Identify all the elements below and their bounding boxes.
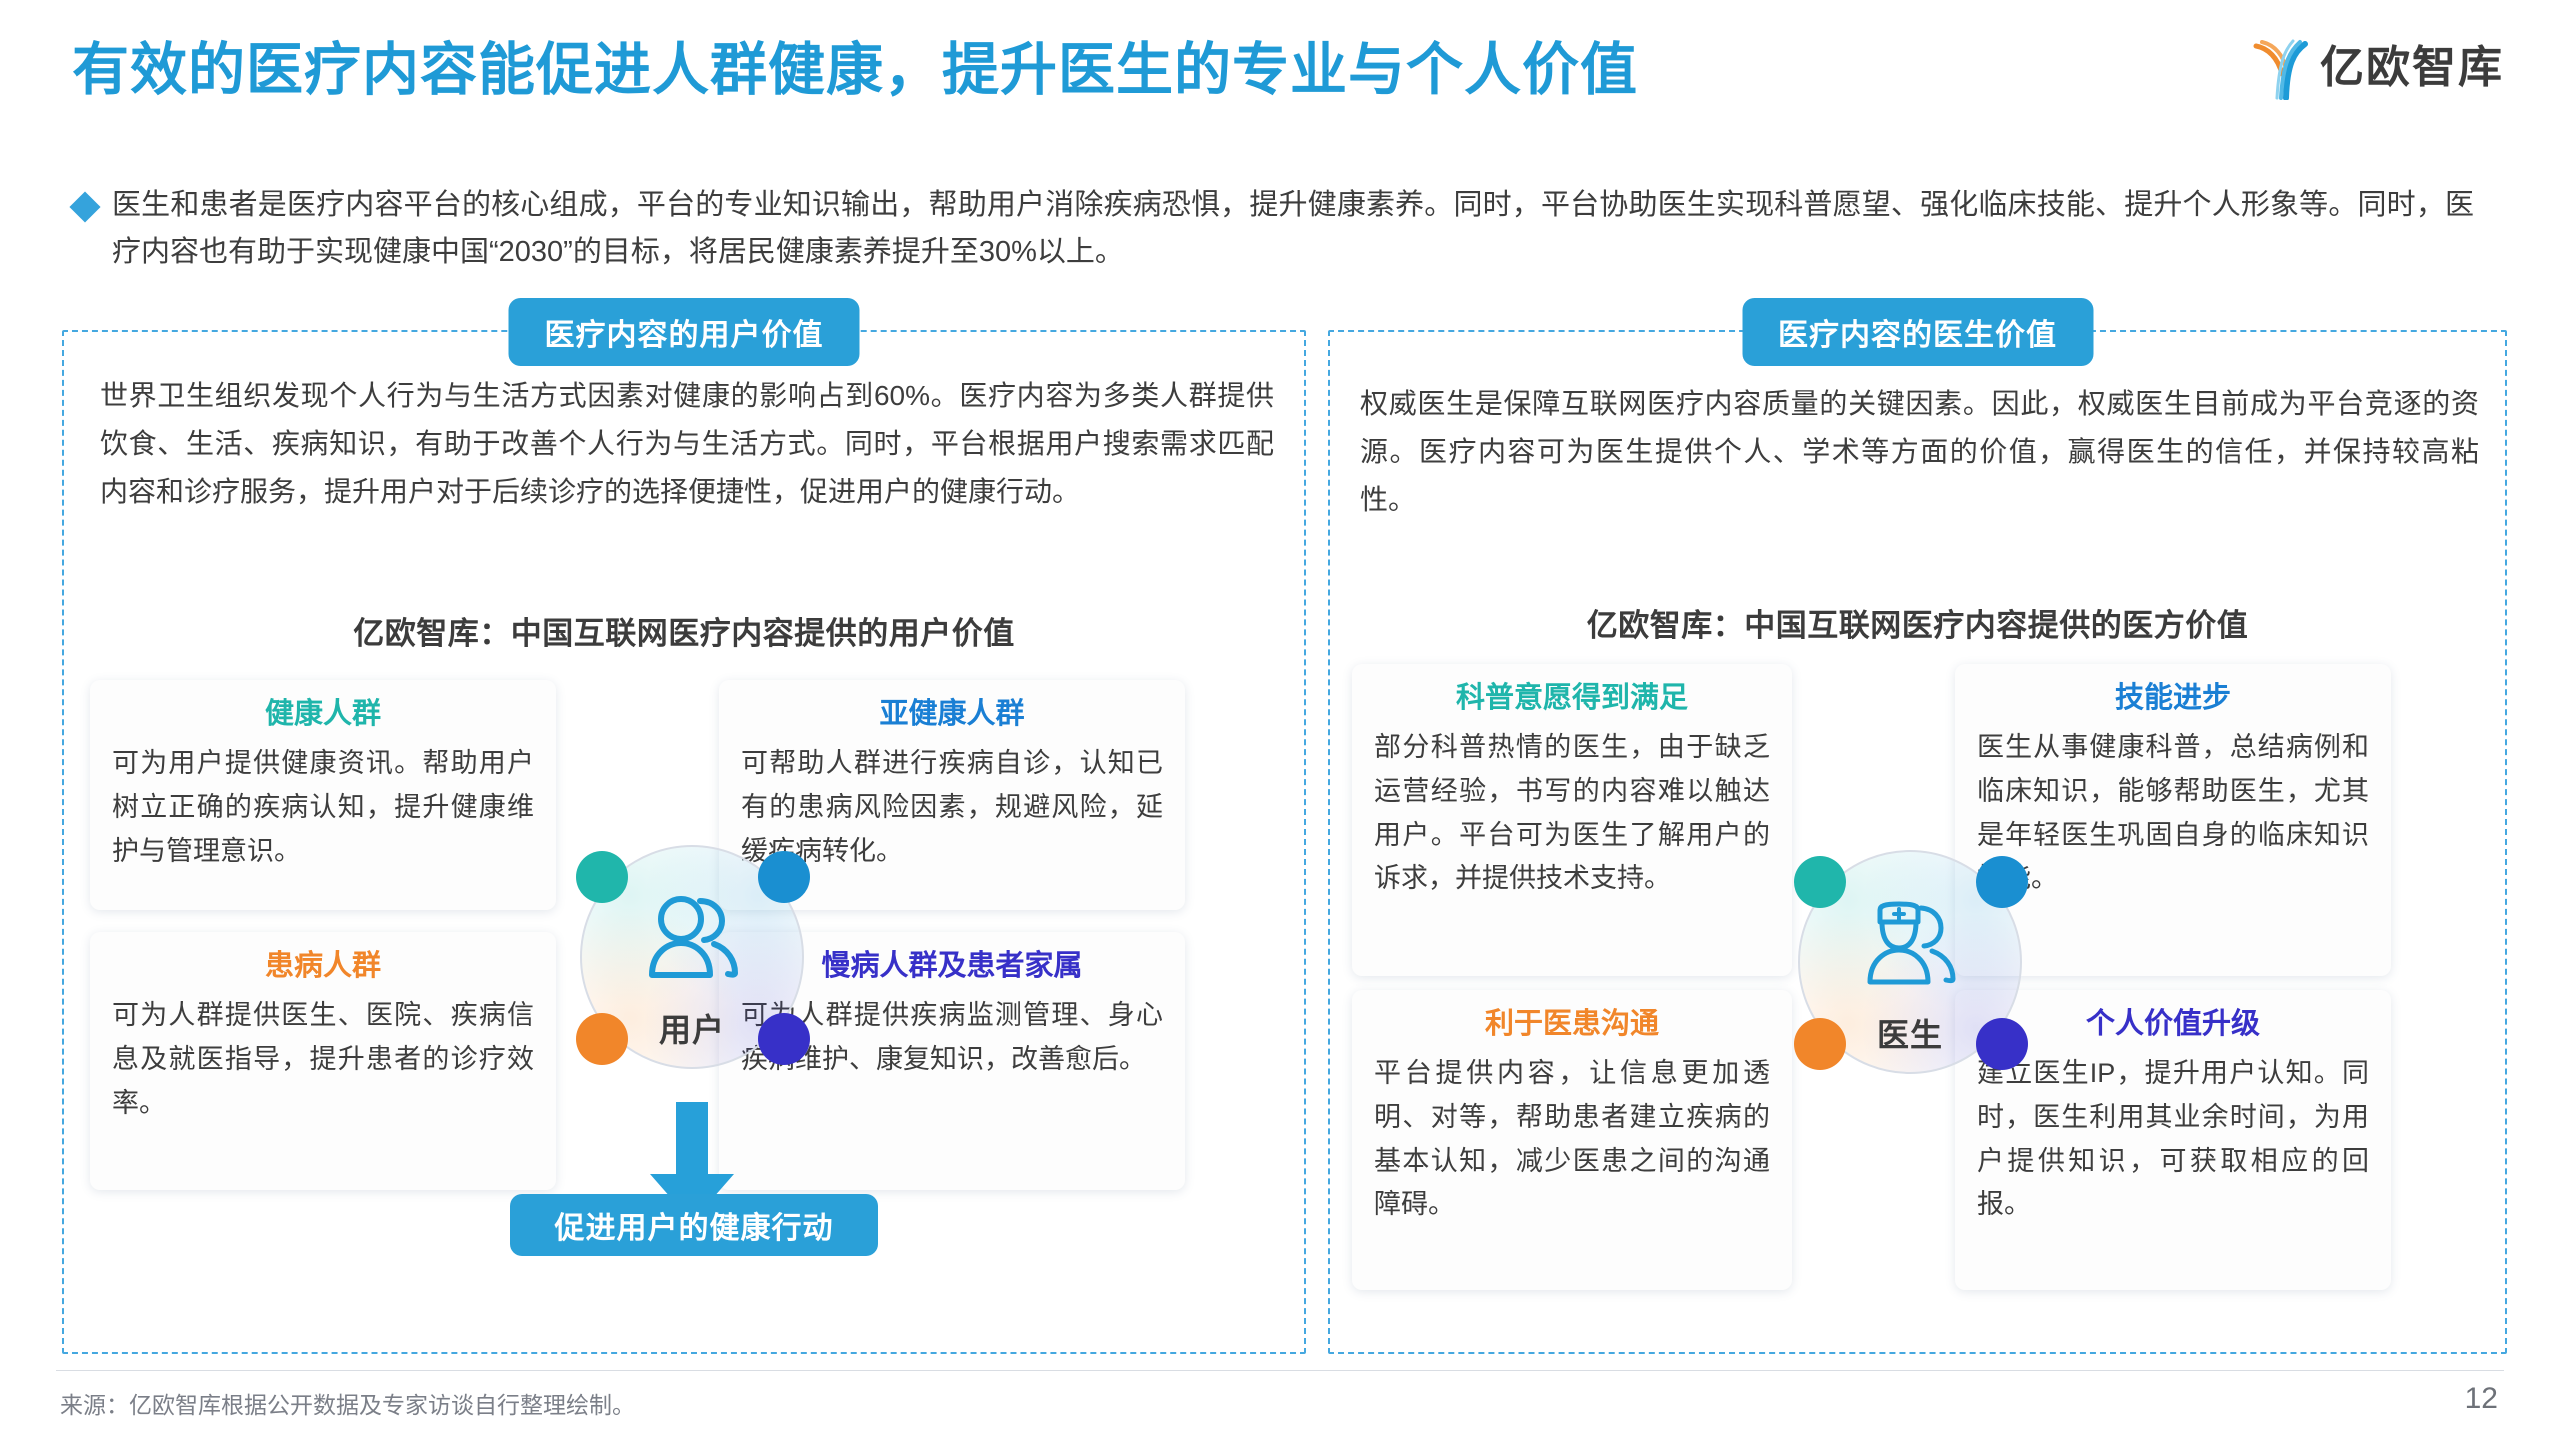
hub-dot-teal xyxy=(576,851,628,903)
brand-logo: 亿欧智库 xyxy=(2252,36,2504,100)
page-number: 12 xyxy=(2465,1382,2498,1416)
card-healthy-group[interactable]: 健康人群 可为用户提供健康资讯。帮助用户树立正确的疾病认知，提升健康维护与管理意… xyxy=(90,680,556,910)
footer-divider xyxy=(56,1370,2504,1371)
panel-doctor-value: 医疗内容的医生价值 权威医生是保障互联网医疗内容质量的关键因素。因此，权威医生目… xyxy=(1328,330,2507,1354)
diamond-bullet-icon xyxy=(69,191,100,222)
logo-text: 亿欧智库 xyxy=(2320,46,2504,90)
hub-dot-teal xyxy=(1794,856,1846,908)
card-ill-group[interactable]: 患病人群 可为人群提供医生、医院、疾病信息及就医指导，提升患者的诊疗效率。 xyxy=(90,932,556,1190)
panel-user-value: 医疗内容的用户价值 世界卫生组织发现个人行为与生活方式因素对健康的影响占到60%… xyxy=(62,330,1306,1354)
card-title: 亚健康人群 xyxy=(741,696,1163,732)
hub-dot-blue xyxy=(1976,856,2028,908)
card-body: 平台提供内容，让信息更加透明、对等，帮助患者建立疾病的基本认知，减少医患之间的沟… xyxy=(1374,1052,1770,1227)
card-body: 部分科普热情的医生，由于缺乏运营经验，书写的内容难以触达用户。平台可为医生了解用… xyxy=(1374,726,1770,901)
cta-promote-health-action[interactable]: 促进用户的健康行动 xyxy=(510,1194,878,1256)
page-title: 有效的医疗内容能促进人群健康，提升医生的专业与个人价值 xyxy=(72,24,1638,106)
card-title: 利于医患沟通 xyxy=(1374,1006,1770,1042)
card-doctor-patient-communication[interactable]: 利于医患沟通 平台提供内容，让信息更加透明、对等，帮助患者建立疾病的基本认知，减… xyxy=(1352,990,1792,1290)
card-title: 健康人群 xyxy=(112,696,534,732)
yiou-plume-icon xyxy=(2252,36,2310,100)
card-body: 可为用户提供健康资讯。帮助用户树立正确的疾病认知，提升健康维护与管理意识。 xyxy=(112,742,534,873)
doctor-icon xyxy=(1858,896,1962,988)
card-title: 技能进步 xyxy=(1977,680,2369,716)
slide-root: 有效的医疗内容能促进人群健康，提升医生的专业与个人价值 亿欧智库 医生和患者是医… xyxy=(0,0,2560,1440)
hub-doctor: 医生 xyxy=(1780,832,2040,1092)
users-icon xyxy=(640,891,744,983)
hub-user: 用户 xyxy=(562,827,822,1087)
card-body: 可为人群提供医生、医院、疾病信息及就医指导，提升患者的诊疗效率。 xyxy=(112,994,534,1125)
card-science-popularization[interactable]: 科普意愿得到满足 部分科普热情的医生，由于缺乏运营经验，书写的内容难以触达用户。… xyxy=(1352,664,1792,976)
hub-label: 用户 xyxy=(562,1005,822,1051)
hub-dot-blue xyxy=(758,851,810,903)
card-title: 患病人群 xyxy=(112,948,534,984)
lead-text: 医生和患者是医疗内容平台的核心组成，平台的专业知识输出，帮助用户消除疾病恐惧，提… xyxy=(112,182,2474,276)
source-note: 来源：亿欧智库根据公开数据及专家访谈自行整理绘制。 xyxy=(60,1386,635,1420)
lead-paragraph: 医生和患者是医疗内容平台的核心组成，平台的专业知识输出，帮助用户消除疾病恐惧，提… xyxy=(74,182,2474,276)
hub-label: 医生 xyxy=(1780,1010,2040,1056)
card-title: 科普意愿得到满足 xyxy=(1374,680,1770,716)
